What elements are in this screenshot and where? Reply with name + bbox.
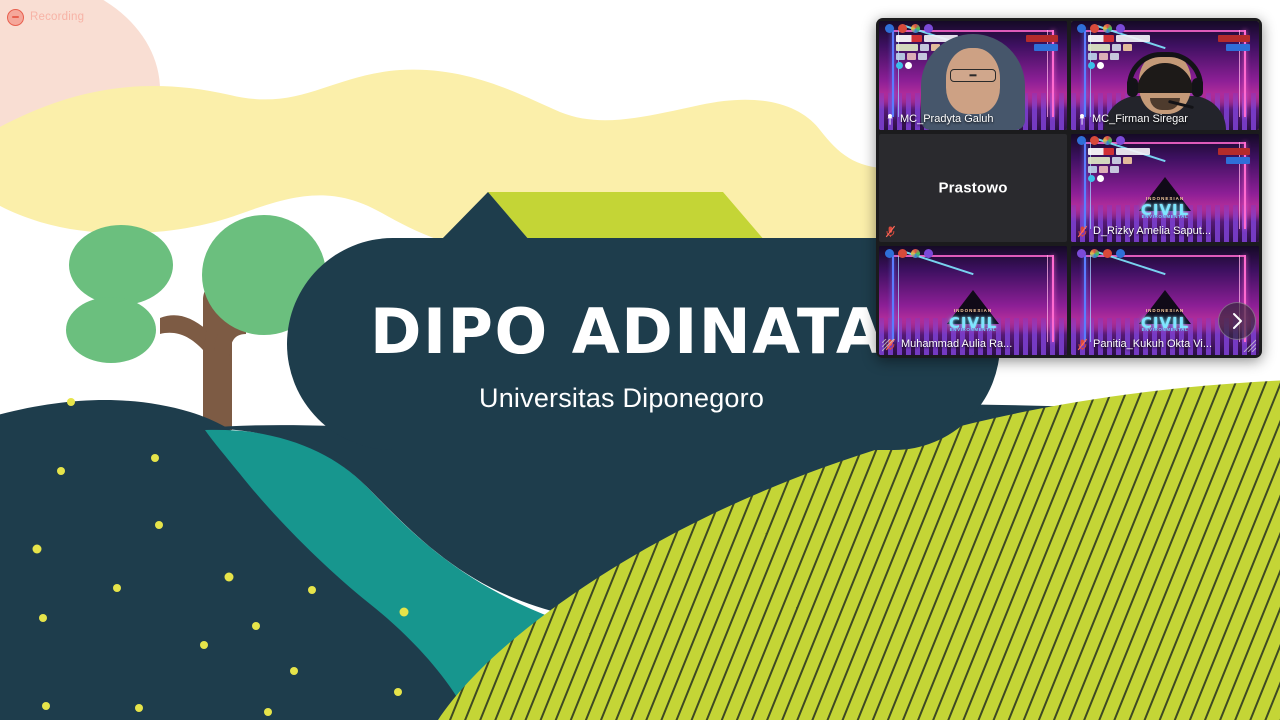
lime-roof: [488, 192, 765, 241]
vb-logo-bottom: ENVIRONMENTAL: [950, 327, 997, 332]
mic-muted-icon: [1077, 225, 1088, 238]
participant-name: MC_Pradyta Galuh: [900, 113, 994, 126]
participant-name-tag: D_Rizky Amelia Saput...: [1071, 222, 1217, 242]
vb-logo-top: INDONESIAN: [1146, 308, 1184, 313]
participant-tile-active[interactable]: MC_Firman Siregar: [1071, 21, 1259, 130]
resize-grip-icon[interactable]: [882, 339, 895, 352]
tree-leaf-top: [69, 225, 173, 305]
participant-grid: MC_Pradyta Galuh: [879, 21, 1259, 355]
vb-logo-bottom: ENVIRONMENTAL: [1142, 327, 1189, 332]
participant-tile[interactable]: INDONESIAN CIVIL ENVIRONMENTAL Muhammad …: [879, 246, 1067, 355]
vb-logo-top: INDONESIAN: [1146, 196, 1184, 201]
participant-display-name: Prastowo: [879, 179, 1067, 196]
recording-label: Recording: [30, 11, 84, 23]
recording-icon: [7, 9, 24, 26]
participant-tile[interactable]: MC_Pradyta Galuh: [879, 21, 1067, 130]
next-page-button[interactable]: [1218, 302, 1256, 340]
participant-name: Panitia_Kukuh Okta Vi...: [1093, 338, 1212, 351]
mic-muted-icon: [1077, 338, 1088, 351]
participant-tile[interactable]: Prastowo: [879, 134, 1067, 243]
participant-name-tag: Muhammad Aulia Ra...: [879, 335, 1018, 355]
pin-icon: [1077, 113, 1087, 126]
chevron-right-icon: [1230, 312, 1245, 330]
screen: DIPO ADINATA Universitas Diponegoro Reco…: [0, 0, 1280, 720]
participant-name-tag: [879, 222, 907, 242]
participant-name-tag: MC_Firman Siregar: [1071, 110, 1194, 130]
participant-tile[interactable]: INDONESIAN CIVIL ENVIRONMENTAL D_Rizky A…: [1071, 134, 1259, 243]
video-panel[interactable]: MC_Pradyta Galuh: [876, 18, 1262, 358]
participant-name-tag: MC_Pradyta Galuh: [879, 110, 1000, 130]
vb-top-icons: [1077, 136, 1125, 145]
participant-name: D_Rizky Amelia Saput...: [1093, 225, 1211, 238]
vb-top-icons: [885, 249, 933, 258]
vb-logo-bottom: ENVIRONMENTAL: [1142, 214, 1189, 219]
participant-name: MC_Firman Siregar: [1092, 113, 1188, 126]
mic-muted-icon: [885, 225, 896, 238]
vb-logo-top: INDONESIAN: [954, 308, 992, 313]
tree-leaf-mid: [66, 297, 156, 363]
participant-name-tag: Panitia_Kukuh Okta Vi...: [1071, 335, 1218, 355]
vb-top-icons: [1077, 249, 1125, 258]
recording-indicator[interactable]: Recording: [7, 8, 84, 26]
resize-grip-icon[interactable]: [1243, 339, 1256, 352]
pin-icon: [885, 113, 895, 126]
vb-hud-right: [1218, 148, 1250, 164]
participant-name: Muhammad Aulia Ra...: [901, 338, 1012, 351]
